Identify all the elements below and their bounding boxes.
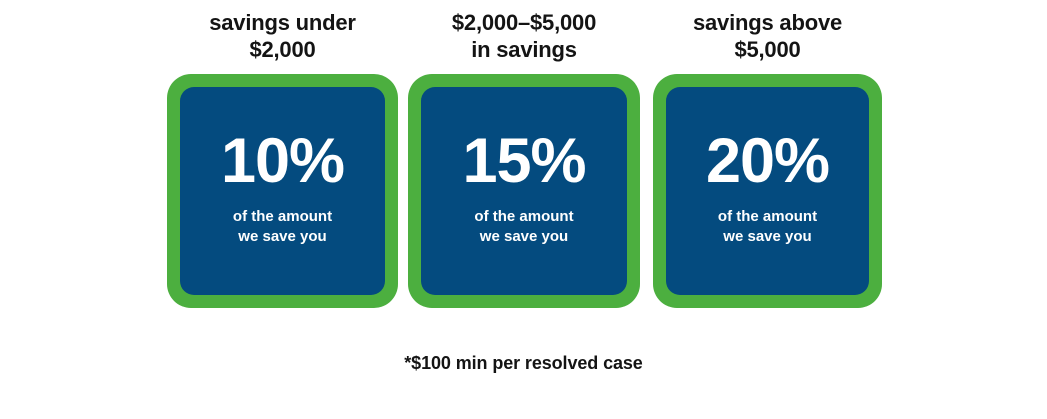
tier-card-2-percent: 15% [462, 130, 585, 193]
footnote: *$100 min per resolved case [0, 353, 1047, 374]
tier-header-1: savings under $2,000 [167, 10, 398, 64]
tier-card-3: 20% of the amount we save you [653, 74, 882, 308]
tier-card-1-percent: 10% [221, 130, 344, 193]
tier-card-2-subtext: of the amount we save you [474, 207, 573, 247]
tier-header-3: savings above $5,000 [653, 10, 882, 64]
pricing-tiers-infographic: savings under $2,000 $2,000–$5,000 in sa… [0, 0, 1047, 419]
tier-header-2: $2,000–$5,000 in savings [408, 10, 640, 64]
tier-card-3-inner: 20% of the amount we save you [666, 87, 869, 295]
tier-card-1-inner: 10% of the amount we save you [180, 87, 385, 295]
tier-card-2: 15% of the amount we save you [408, 74, 640, 308]
tier-card-3-subtext: of the amount we save you [718, 207, 817, 247]
tier-card-2-inner: 15% of the amount we save you [421, 87, 627, 295]
tier-card-3-percent: 20% [706, 130, 829, 193]
tier-cards-row: 10% of the amount we save you 15% of the… [167, 74, 882, 308]
tier-card-1-subtext: of the amount we save you [233, 207, 332, 247]
tier-card-1: 10% of the amount we save you [167, 74, 398, 308]
tier-headers-row: savings under $2,000 $2,000–$5,000 in sa… [167, 10, 882, 70]
